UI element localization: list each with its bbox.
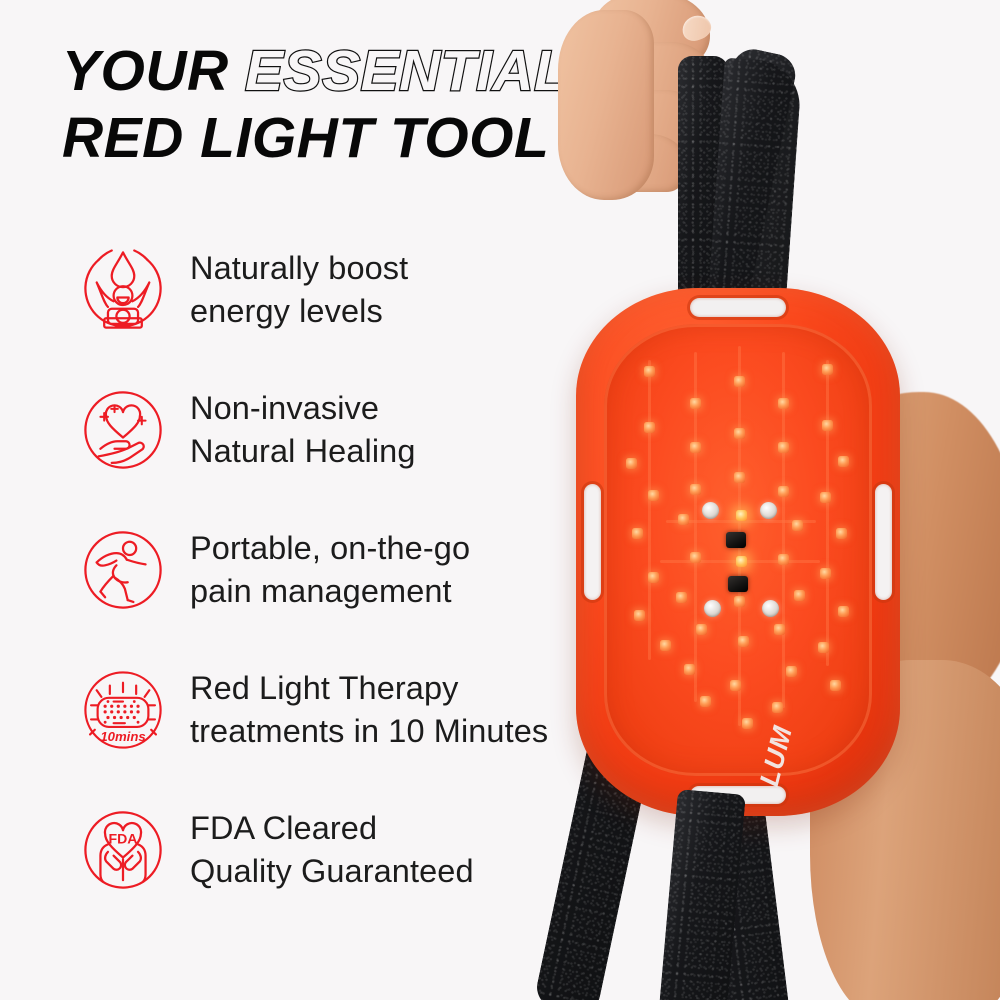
circuit-trace: [648, 360, 651, 660]
led: [774, 624, 785, 635]
led: [644, 366, 655, 377]
led: [690, 442, 701, 453]
led: [734, 596, 745, 607]
strap-slot-left: [584, 484, 601, 600]
led: [818, 642, 829, 653]
led: [644, 422, 655, 433]
feature-text-healing: Non-invasive Natural Healing: [190, 387, 416, 473]
led-pad-timer-icon: 10mins: [76, 663, 170, 757]
led: [690, 398, 701, 409]
feature-line-2: treatments in 10 Minutes: [190, 710, 548, 753]
led: [778, 486, 789, 497]
led: [734, 472, 745, 483]
led-panel: [604, 324, 872, 776]
led: [678, 514, 689, 525]
led: [778, 442, 789, 453]
led: [648, 572, 659, 583]
palm: [558, 10, 654, 200]
feature-item-healing: Non-invasive Natural Healing: [0, 378, 600, 482]
feature-item-therapy-time: 10mins Red Light Therapy treatments in 1…: [0, 658, 600, 762]
feature-line-2: Quality Guaranteed: [190, 850, 474, 893]
feature-list: Naturally boost energy levels: [0, 238, 600, 938]
led: [730, 680, 741, 691]
marketing-image: YOUR ESSENTIAL RED LIGHT TOOL: [0, 0, 1000, 1000]
led: [634, 610, 645, 621]
panel-screw: [702, 502, 719, 519]
panel-screw: [704, 600, 721, 617]
strap-slot-right: [875, 484, 892, 600]
red-light-therapy-pad[interactable]: [576, 288, 900, 816]
feature-text-fda: FDA Cleared Quality Guaranteed: [190, 807, 474, 893]
strap-fold: [707, 58, 802, 313]
energy-boost-icon: [76, 243, 170, 337]
feature-line-1: Red Light Therapy: [190, 667, 548, 710]
led: [786, 666, 797, 677]
led: [648, 490, 659, 501]
feature-text-portable: Portable, on-the-go pain management: [190, 527, 470, 613]
driver-chip: [726, 532, 746, 548]
feature-line-2: Natural Healing: [190, 430, 416, 473]
feature-line-1: Portable, on-the-go: [190, 527, 470, 570]
led: [792, 520, 803, 531]
led: [838, 456, 849, 467]
panel-screw: [760, 502, 777, 519]
led: [778, 398, 789, 409]
timer-badge-label: 10mins: [100, 729, 145, 744]
led: [696, 624, 707, 635]
feature-item-portable: Portable, on-the-go pain management: [0, 518, 600, 622]
feature-text-energy: Naturally boost energy levels: [190, 247, 408, 333]
led: [734, 428, 745, 439]
running-person-icon: [76, 523, 170, 617]
led: [822, 364, 833, 375]
led: [794, 590, 805, 601]
led: [626, 458, 637, 469]
led: [690, 552, 701, 563]
led: [830, 680, 841, 691]
led-bright: [736, 556, 747, 567]
led: [734, 376, 745, 387]
panel-screw: [762, 600, 779, 617]
led: [838, 606, 849, 617]
led: [822, 420, 833, 431]
circuit-trace: [826, 360, 829, 666]
feature-line-2: energy levels: [190, 290, 408, 333]
led: [690, 484, 701, 495]
feature-text-therapy-time: Red Light Therapy treatments in 10 Minut…: [190, 667, 548, 753]
feature-item-energy: Naturally boost energy levels: [0, 238, 600, 342]
heart-in-hand-icon: [76, 383, 170, 477]
product-photo: LUM: [540, 0, 1000, 1000]
led: [632, 528, 643, 539]
led: [684, 664, 695, 675]
headline-word-your: YOUR: [62, 39, 229, 103]
led: [836, 528, 847, 539]
feature-line-2: pain management: [190, 570, 470, 613]
strap-slot-top: [690, 298, 786, 317]
led: [738, 636, 749, 647]
fda-hands-heart-icon: FDA: [76, 803, 170, 897]
fda-label: FDA: [109, 830, 138, 846]
led: [700, 696, 711, 707]
driver-chip: [728, 576, 748, 592]
led: [676, 592, 687, 603]
led-bright: [736, 510, 747, 521]
led: [772, 702, 783, 713]
feature-item-fda: FDA FDA Cleared Quality Guaranteed: [0, 798, 600, 902]
led: [742, 718, 753, 729]
feature-line-1: Naturally boost: [190, 247, 408, 290]
led: [660, 640, 671, 651]
headline-word-essential: ESSENTIAL: [245, 39, 569, 103]
led: [820, 568, 831, 579]
feature-line-1: Non-invasive: [190, 387, 416, 430]
feature-line-1: FDA Cleared: [190, 807, 474, 850]
led: [778, 554, 789, 565]
led: [820, 492, 831, 503]
